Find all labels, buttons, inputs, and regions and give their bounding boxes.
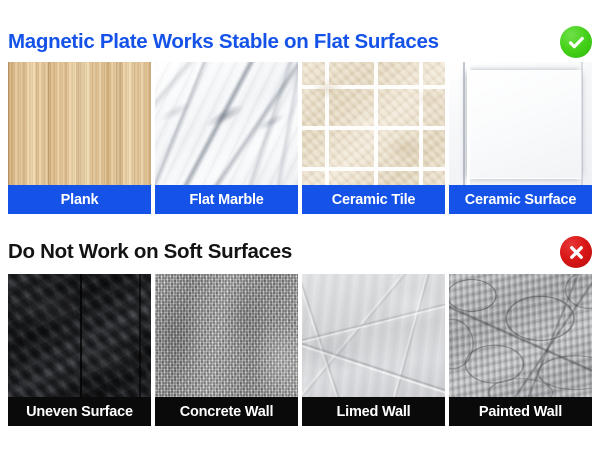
works-section-title: Magnetic Plate Works Stable on Flat Surf… [8, 32, 439, 53]
surface-caption: Concrete Wall [155, 397, 298, 426]
surface-card[interactable]: Uneven Surface [8, 274, 151, 426]
concrete-wall-texture [155, 274, 298, 397]
painted-wall-texture [449, 274, 592, 397]
surface-card[interactable]: Flat Marble [155, 62, 298, 214]
surface-card[interactable]: Plank [8, 62, 151, 214]
surface-swatch [155, 62, 298, 185]
not-works-section-title: Do Not Work on Soft Surfaces [8, 242, 292, 263]
uneven-slate-texture [8, 274, 151, 397]
ceramic-surface-texture [449, 62, 592, 185]
works-surface-grid: Plank Flat Marble Ceramic Tile Ceramic S… [8, 62, 592, 214]
surface-caption: Ceramic Surface [449, 185, 592, 214]
surface-caption: Uneven Surface [8, 397, 151, 426]
limed-wall-texture [302, 274, 445, 397]
flat-marble-texture [155, 62, 298, 185]
surface-caption: Flat Marble [155, 185, 298, 214]
surface-swatch [449, 62, 592, 185]
surface-card[interactable]: Limed Wall [302, 274, 445, 426]
surface-swatch [302, 62, 445, 185]
wood-plank-texture [8, 62, 151, 185]
surface-card[interactable]: Ceramic Surface [449, 62, 592, 214]
surface-swatch [8, 62, 151, 185]
ceramic-tile-texture [302, 62, 445, 185]
surface-swatch [449, 274, 592, 397]
works-section-header: Magnetic Plate Works Stable on Flat Surf… [8, 0, 592, 62]
surface-caption: Plank [8, 185, 151, 214]
surface-caption: Painted Wall [449, 397, 592, 426]
surface-card[interactable]: Ceramic Tile [302, 62, 445, 214]
not-works-surface-grid: Uneven Surface Concrete Wall Limed Wall … [8, 274, 592, 426]
surface-swatch [8, 274, 151, 397]
surface-caption: Ceramic Tile [302, 185, 445, 214]
surface-swatch [155, 274, 298, 397]
surface-swatch [302, 274, 445, 397]
surface-caption: Limed Wall [302, 397, 445, 426]
not-works-section-header: Do Not Work on Soft Surfaces [8, 214, 592, 274]
surface-compatibility-infographic: Magnetic Plate Works Stable on Flat Surf… [0, 0, 600, 450]
check-circle-icon [560, 26, 592, 58]
surface-card[interactable]: Concrete Wall [155, 274, 298, 426]
x-circle-icon [560, 236, 592, 268]
surface-card[interactable]: Painted Wall [449, 274, 592, 426]
